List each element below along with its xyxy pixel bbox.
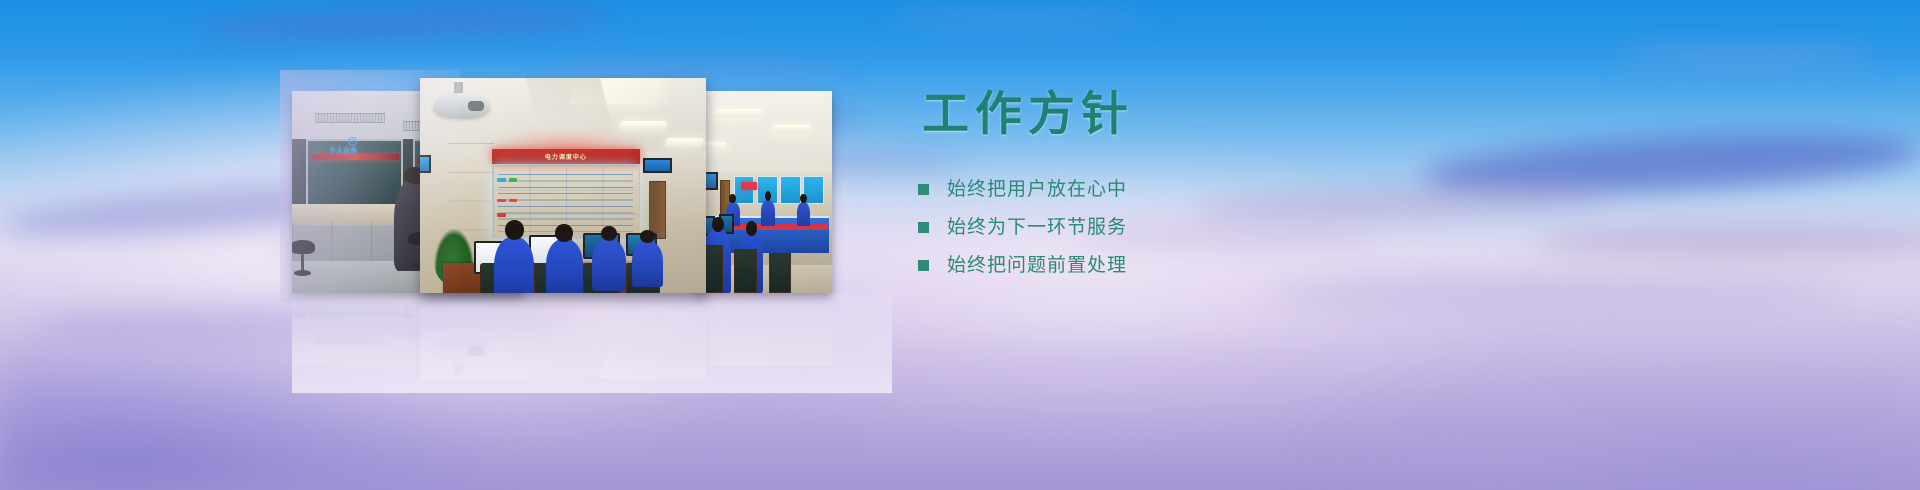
banner-text-block: 工作方针 始终把用户放在心中 始终为下一环节服务 始终把问题前置处理 bbox=[918, 90, 1478, 294]
worker-figure bbox=[632, 241, 663, 286]
reflection-photo-center bbox=[420, 293, 706, 379]
projector bbox=[434, 93, 488, 117]
photo-collage-reflection bbox=[292, 293, 832, 379]
ceiling-light bbox=[771, 125, 811, 133]
cloud-streak bbox=[1613, 49, 1882, 64]
hero-banner: ② 个人业务 对公业务 bbox=[0, 0, 1920, 490]
list-item: 始终把问题前置处理 bbox=[918, 256, 1478, 275]
worker-figure bbox=[546, 239, 583, 293]
ceiling-light bbox=[619, 121, 667, 130]
office-workstations-scene bbox=[696, 91, 832, 293]
photo-collage: ② 个人业务 对公业务 bbox=[292, 78, 832, 293]
ceiling-light bbox=[714, 109, 762, 117]
worker-figure bbox=[494, 237, 534, 293]
list-item: 始终为下一环节服务 bbox=[918, 218, 1478, 237]
window-service-sign: 个人业务 bbox=[329, 146, 357, 156]
page-title: 工作方针 bbox=[922, 90, 1478, 142]
video-wall-tag bbox=[497, 178, 506, 182]
video-wall-tag bbox=[497, 199, 506, 203]
worker-figure bbox=[592, 239, 626, 291]
square-bullet-icon bbox=[918, 222, 929, 233]
list-item-label: 始终把用户放在心中 bbox=[947, 180, 1127, 199]
ceiling-light bbox=[665, 138, 704, 147]
staff-figure bbox=[761, 200, 775, 226]
chair bbox=[769, 253, 791, 293]
policy-list: 始终把用户放在心中 始终为下一环节服务 始终把问题前置处理 bbox=[918, 180, 1478, 275]
video-wall-tag bbox=[509, 178, 518, 182]
square-bullet-icon bbox=[918, 184, 929, 195]
stool bbox=[292, 240, 315, 276]
red-banner: 电力调度中心 bbox=[492, 149, 641, 164]
list-item: 始终把用户放在心中 bbox=[918, 180, 1478, 199]
photo-office-workstations[interactable] bbox=[696, 91, 832, 293]
chair bbox=[734, 249, 757, 293]
wall-board-highlight bbox=[741, 182, 757, 190]
photo-dispatch-room[interactable]: 电力调度中心 bbox=[420, 78, 706, 293]
staff-figure bbox=[797, 202, 811, 226]
square-bullet-icon bbox=[918, 260, 929, 271]
list-item-label: 始终把问题前置处理 bbox=[947, 256, 1127, 275]
video-wall-tag bbox=[509, 199, 518, 203]
air-vent bbox=[315, 113, 385, 123]
reflection-photo-right bbox=[696, 293, 832, 366]
ceiling bbox=[696, 91, 832, 172]
wall-monitor bbox=[420, 155, 431, 172]
wall-monitor bbox=[643, 158, 672, 173]
red-banner-text: 电力调度中心 bbox=[492, 149, 641, 164]
wall-board bbox=[780, 176, 800, 204]
video-wall-tag bbox=[497, 213, 506, 217]
dispatch-room-scene: 电力调度中心 bbox=[420, 78, 706, 293]
sky-bottom-right-glow bbox=[1114, 265, 1920, 490]
list-item-label: 始终为下一环节服务 bbox=[947, 218, 1127, 237]
